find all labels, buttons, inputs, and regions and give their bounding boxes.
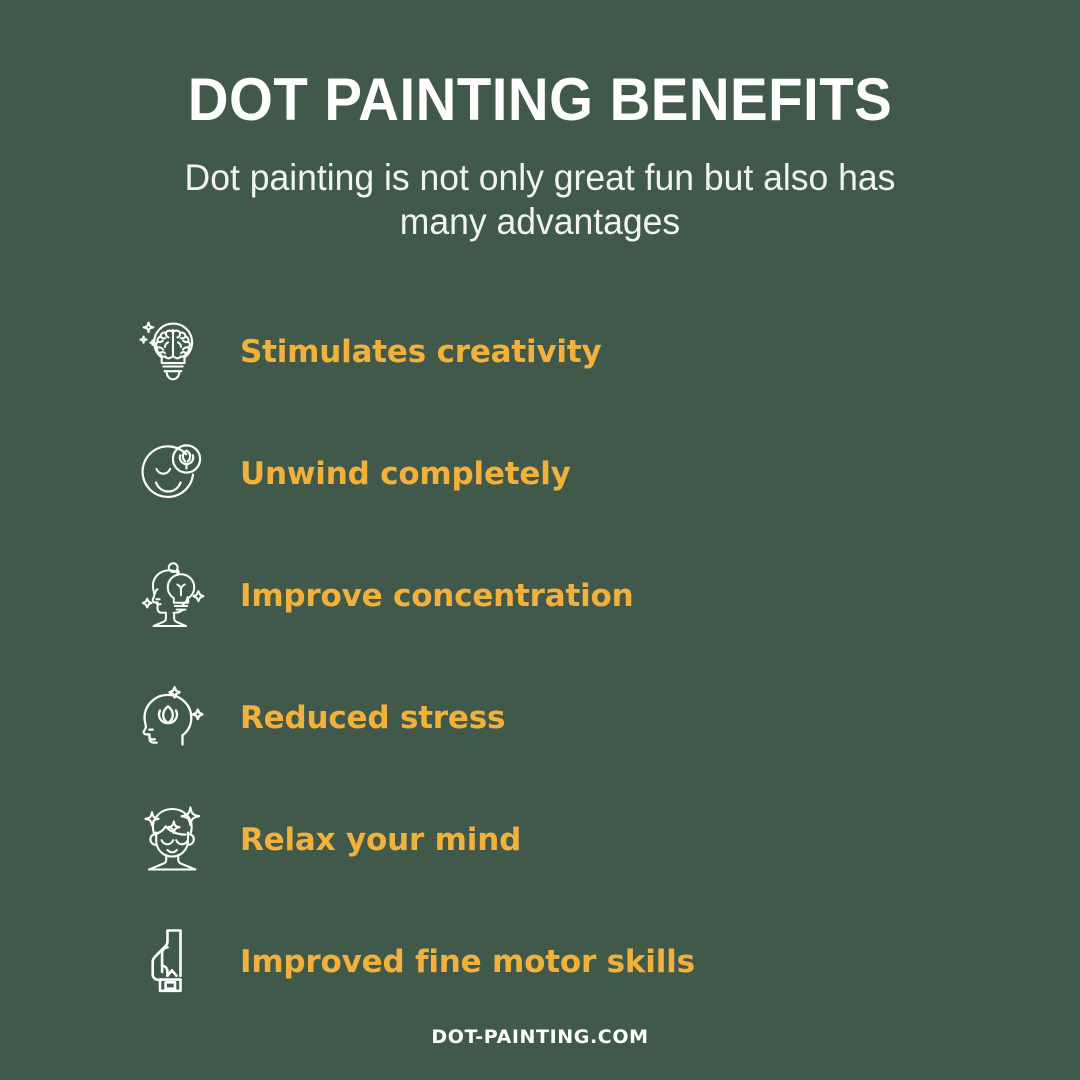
list-item: Improved fine motor skills xyxy=(138,901,1080,1023)
smiling-face-flower-icon xyxy=(138,434,214,514)
list-item: Reduced stress xyxy=(138,657,1080,779)
relaxed-face-sparkle-icon xyxy=(138,800,214,880)
page-title: DOT PAINTING BENEFITS xyxy=(32,70,1047,130)
list-item: Relax your mind xyxy=(138,779,1080,901)
list-item-label: Improve concentration xyxy=(240,578,634,614)
poster-header: DOT PAINTING BENEFITS Dot painting is no… xyxy=(0,0,1080,243)
list-item-label: Relax your mind xyxy=(240,822,521,858)
list-item: Unwind completely xyxy=(138,413,1080,535)
list-item: Improve concentration xyxy=(138,535,1080,657)
page-subtitle: Dot painting is not only great fun but a… xyxy=(161,156,919,243)
list-item-label: Improved fine motor skills xyxy=(240,944,695,980)
list-item-label: Unwind completely xyxy=(240,456,571,492)
list-item: Stimulates creativity xyxy=(138,291,1080,413)
list-item-label: Stimulates creativity xyxy=(240,334,602,370)
head-lightbulb-icon xyxy=(138,556,214,636)
head-lotus-icon xyxy=(138,678,214,758)
poster-footer: DOT-PAINTING.COM xyxy=(0,1026,1080,1080)
brain-lightbulb-icon xyxy=(138,312,214,392)
infographic-poster: DOT PAINTING BENEFITS Dot painting is no… xyxy=(0,0,1080,1080)
list-item-label: Reduced stress xyxy=(240,700,505,736)
benefits-list: Stimulates creativity xyxy=(0,291,1080,1026)
hand-holding-tool-icon xyxy=(138,922,214,1002)
website-label: DOT-PAINTING.COM xyxy=(431,1026,648,1048)
